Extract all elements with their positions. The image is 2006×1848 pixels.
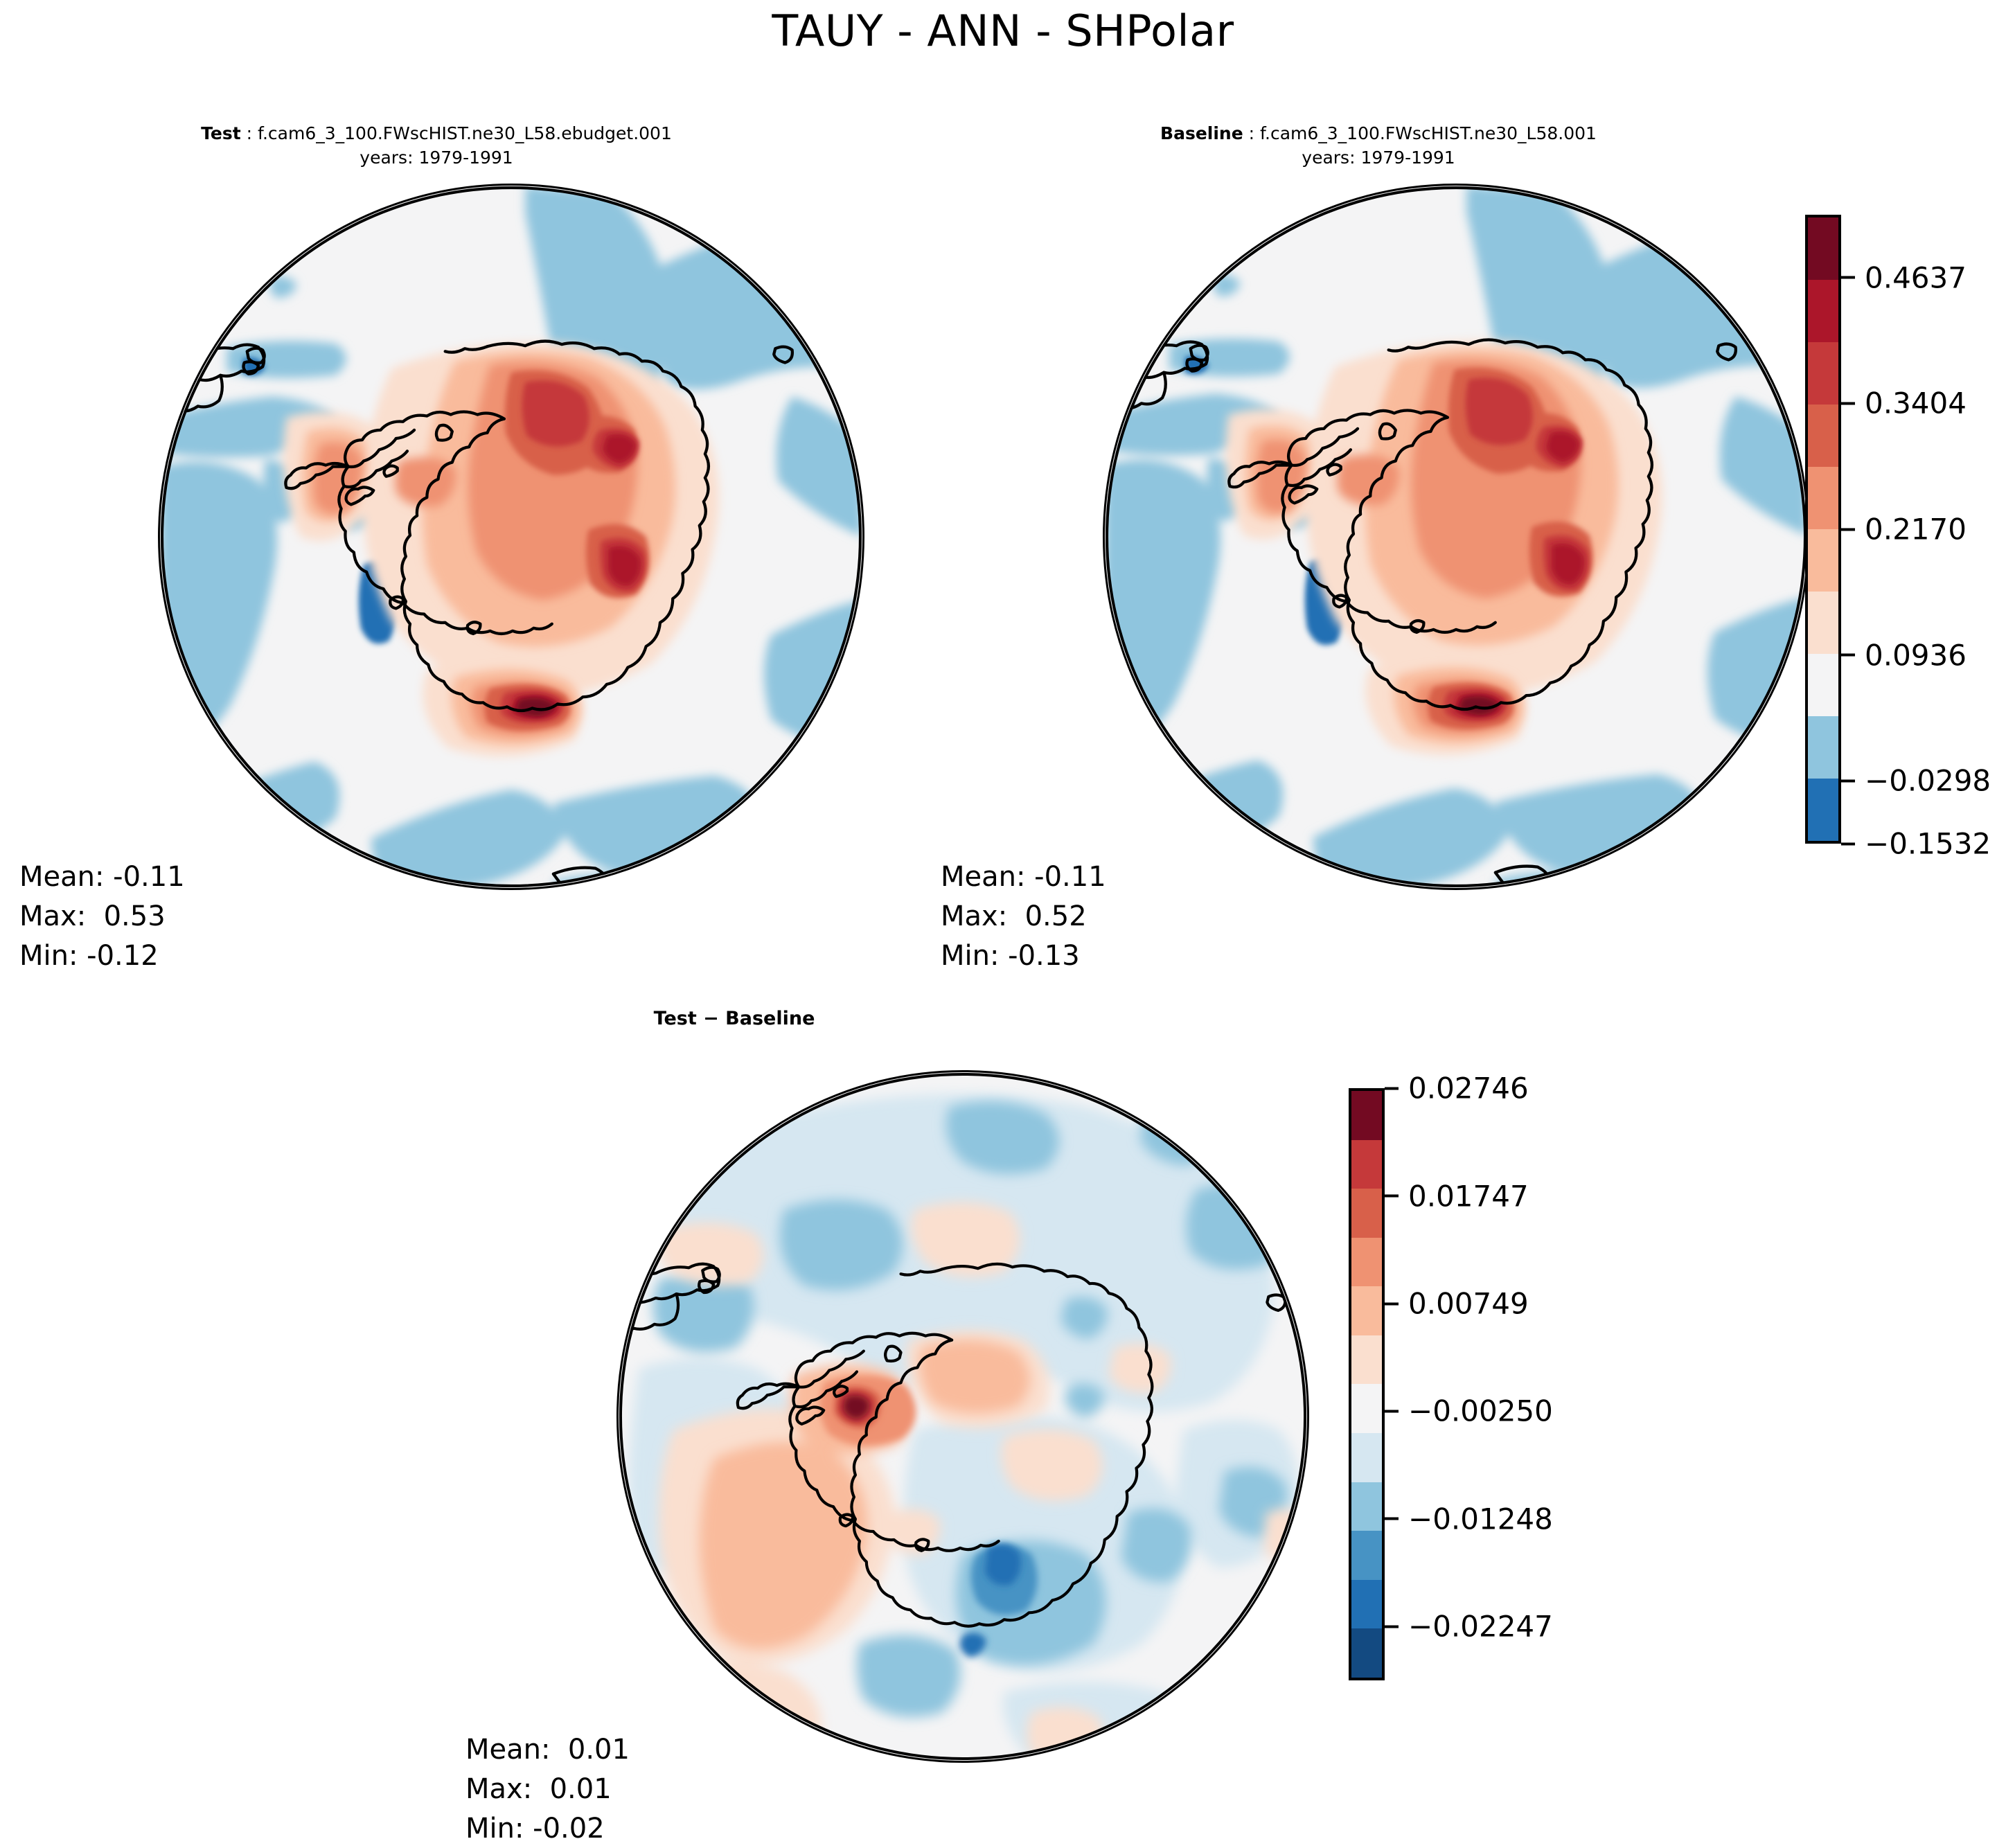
- baseline-title-separator: :: [1243, 123, 1260, 143]
- colorbar-tick-label: −0.0298: [1865, 764, 1991, 798]
- colorbar-tick-1: 0.01747: [1385, 1179, 1529, 1213]
- baseline-map-svg: [1105, 186, 1807, 888]
- test-panel-title: Test : f.cam6_3_100.FWscHIST.ne30_L58.eb…: [90, 122, 783, 170]
- stats-test: Mean: -0.11 Max: 0.53 Min: -0.12: [19, 858, 185, 975]
- tick-mark-icon: [1841, 528, 1855, 531]
- colorbar-top[interactable]: 0.46370.34040.21700.0936−0.0298−0.1532: [1805, 215, 1841, 844]
- colorbar-tick-0: 0.02746: [1385, 1072, 1529, 1105]
- page-title: TAUY - ANN - SHPolar: [0, 6, 2006, 56]
- colorbar-tick-5: −0.1532: [1841, 827, 1991, 861]
- difference-map-svg: [619, 1072, 1307, 1761]
- colorbar-tick-4: −0.01248: [1385, 1502, 1553, 1536]
- colorbar-tick-4: −0.0298: [1841, 764, 1991, 798]
- colorbar-tick-3: −0.00250: [1385, 1394, 1553, 1428]
- tick-mark-icon: [1385, 1195, 1399, 1198]
- colorbar-tick-1: 0.3404: [1841, 387, 1967, 420]
- tick-mark-icon: [1841, 402, 1855, 405]
- colorbar-tick-label: 0.01747: [1408, 1179, 1529, 1213]
- tick-mark-icon: [1385, 1410, 1399, 1412]
- colorbar-difference-ticks: 0.027460.017470.00749−0.00250−0.01248−0.…: [1349, 1088, 1385, 1680]
- tick-mark-icon: [1841, 779, 1855, 782]
- stats-baseline: Mean: -0.11 Max: 0.52 Min: -0.13: [941, 858, 1106, 975]
- map-panel-baseline: [1103, 184, 1809, 890]
- tick-mark-icon: [1385, 1625, 1399, 1628]
- stats-difference: Mean: 0.01 Max: 0.01 Min: -0.02: [465, 1730, 630, 1848]
- colorbar-tick-label: 0.2170: [1865, 513, 1967, 547]
- map-panel-test: [158, 184, 864, 890]
- test-title-separator: :: [241, 123, 258, 143]
- tick-mark-icon: [1385, 1087, 1399, 1090]
- colorbar-tick-label: 0.00749: [1408, 1287, 1529, 1321]
- colorbar-tick-label: −0.00250: [1408, 1394, 1553, 1428]
- colorbar-tick-2: 0.2170: [1841, 513, 1967, 547]
- test-panel-label: Test: [201, 123, 241, 143]
- colorbar-tick-0: 0.4637: [1841, 260, 1967, 294]
- test-years: years: 1979-1991: [90, 146, 783, 170]
- figure-canvas: TAUY - ANN - SHPolar Test : f.cam6_3_100…: [0, 0, 2006, 1847]
- tick-mark-icon: [1385, 1518, 1399, 1520]
- colorbar-tick-label: 0.3404: [1865, 387, 1967, 420]
- colorbar-tick-label: 0.0936: [1865, 638, 1967, 672]
- colorbar-tick-2: 0.00749: [1385, 1287, 1529, 1321]
- colorbar-tick-label: −0.01248: [1408, 1502, 1553, 1536]
- colorbar-tick-3: 0.0936: [1841, 638, 1967, 672]
- tick-mark-icon: [1841, 276, 1855, 279]
- tick-mark-icon: [1841, 842, 1855, 845]
- colorbar-top-ticks: 0.46370.34040.21700.0936−0.0298−0.1532: [1805, 215, 1841, 844]
- test-case-name: f.cam6_3_100.FWscHIST.ne30_L58.ebudget.0…: [258, 123, 672, 143]
- tick-mark-icon: [1385, 1302, 1399, 1305]
- colorbar-difference[interactable]: 0.027460.017470.00749−0.00250−0.01248−0.…: [1349, 1088, 1385, 1680]
- difference-panel-title: Test − Baseline: [457, 1006, 1011, 1031]
- baseline-panel-title: Baseline : f.cam6_3_100.FWscHIST.ne30_L5…: [1032, 122, 1725, 170]
- baseline-panel-label: Baseline: [1160, 123, 1243, 143]
- baseline-case-name: f.cam6_3_100.FWscHIST.ne30_L58.001: [1260, 123, 1597, 143]
- colorbar-tick-5: −0.02247: [1385, 1610, 1553, 1644]
- colorbar-tick-label: 0.4637: [1865, 260, 1967, 294]
- tick-mark-icon: [1841, 654, 1855, 657]
- colorbar-tick-label: −0.02247: [1408, 1610, 1553, 1644]
- map-panel-difference: [616, 1070, 1309, 1763]
- colorbar-tick-label: 0.02746: [1408, 1072, 1529, 1105]
- test-map-svg: [160, 186, 862, 888]
- baseline-years: years: 1979-1991: [1032, 146, 1725, 170]
- colorbar-tick-label: −0.1532: [1865, 827, 1991, 861]
